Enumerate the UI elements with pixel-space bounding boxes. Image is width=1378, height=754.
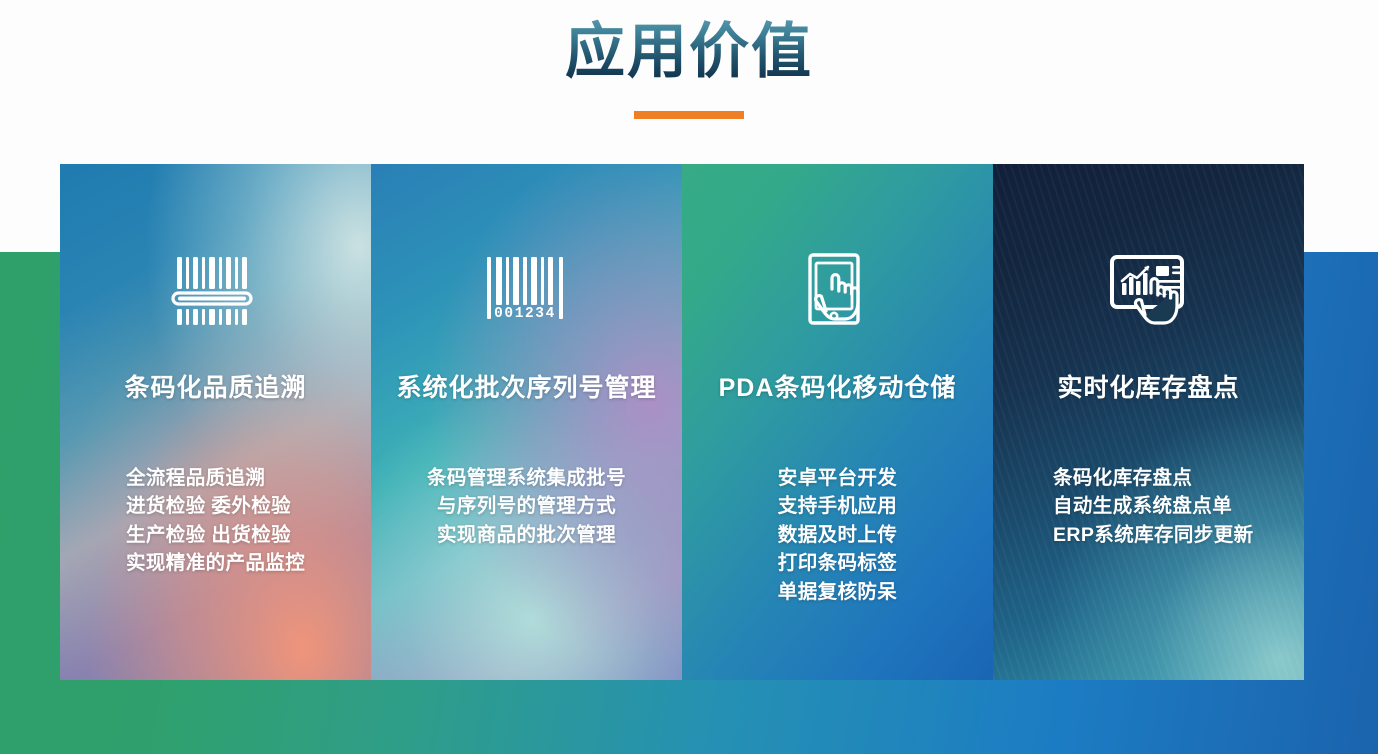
- value-cards-row: 条码化品质追溯 全流程品质追溯 进货检验 委外检验 生产检验 出货检验 实现精准…: [60, 164, 1304, 680]
- card-title: 条码化品质追溯: [60, 368, 371, 404]
- card-line: 进货检验 委外检验: [126, 492, 359, 520]
- card-line: 打印条码标签: [712, 549, 963, 577]
- tablet-dashboard-touch-icon: [1103, 250, 1195, 336]
- page-root: 应用价值: [0, 0, 1378, 754]
- card-title: PDA条码化移动仓储: [682, 368, 993, 404]
- card-line: 单据复核防呆: [712, 578, 963, 606]
- card-line: 条码化库存盘点: [1053, 464, 1292, 492]
- card-title: 实时化库存盘点: [993, 368, 1304, 404]
- value-card-barcode-quality-trace[interactable]: 条码化品质追溯 全流程品质追溯 进货检验 委外检验 生产检验 出货检验 实现精准…: [60, 164, 371, 680]
- value-card-batch-serial-management[interactable]: 001234 系统化批次序列号管理 条码管理系统集成批号 与序列号的管理方式 实…: [371, 164, 682, 680]
- card-line: 全流程品质追溯: [126, 464, 359, 492]
- card-line: 数据及时上传: [712, 521, 963, 549]
- card-line: 生产检验 出货检验: [126, 521, 359, 549]
- card-line: 支持手机应用: [712, 492, 963, 520]
- tablet-touch-icon: [792, 250, 884, 336]
- page-title: 应用价值: [565, 14, 813, 89]
- card-line: 安卓平台开发: [712, 464, 963, 492]
- card-line: 自动生成系统盘点单: [1053, 492, 1292, 520]
- card-line: 条码管理系统集成批号: [401, 464, 652, 492]
- card-line: 实现精准的产品监控: [126, 549, 359, 577]
- card-description: 安卓平台开发 支持手机应用 数据及时上传 打印条码标签 单据复核防呆: [682, 464, 993, 606]
- barcode-scanner-icon: [170, 250, 262, 336]
- card-title: 系统化批次序列号管理: [371, 368, 682, 404]
- card-line: ERP系统库存同步更新: [1053, 521, 1292, 549]
- card-description: 全流程品质追溯 进货检验 委外检验 生产检验 出货检验 实现精准的产品监控: [60, 464, 371, 578]
- page-header: 应用价值: [0, 0, 1378, 152]
- card-line: 实现商品的批次管理: [401, 521, 652, 549]
- card-description: 条码化库存盘点 自动生成系统盘点单 ERP系统库存同步更新: [993, 464, 1304, 549]
- card-line: 与序列号的管理方式: [401, 492, 652, 520]
- barcode-number-icon: 001234: [481, 250, 573, 336]
- value-card-pda-mobile-warehouse[interactable]: PDA条码化移动仓储 安卓平台开发 支持手机应用 数据及时上传 打印条码标签 单…: [682, 164, 993, 680]
- value-card-realtime-inventory-count[interactable]: 实时化库存盘点 条码化库存盘点 自动生成系统盘点单 ERP系统库存同步更新: [993, 164, 1304, 680]
- card-description: 条码管理系统集成批号 与序列号的管理方式 实现商品的批次管理: [371, 464, 682, 549]
- barcode-number-text: 001234: [494, 306, 556, 322]
- title-underline-rule: [634, 111, 744, 119]
